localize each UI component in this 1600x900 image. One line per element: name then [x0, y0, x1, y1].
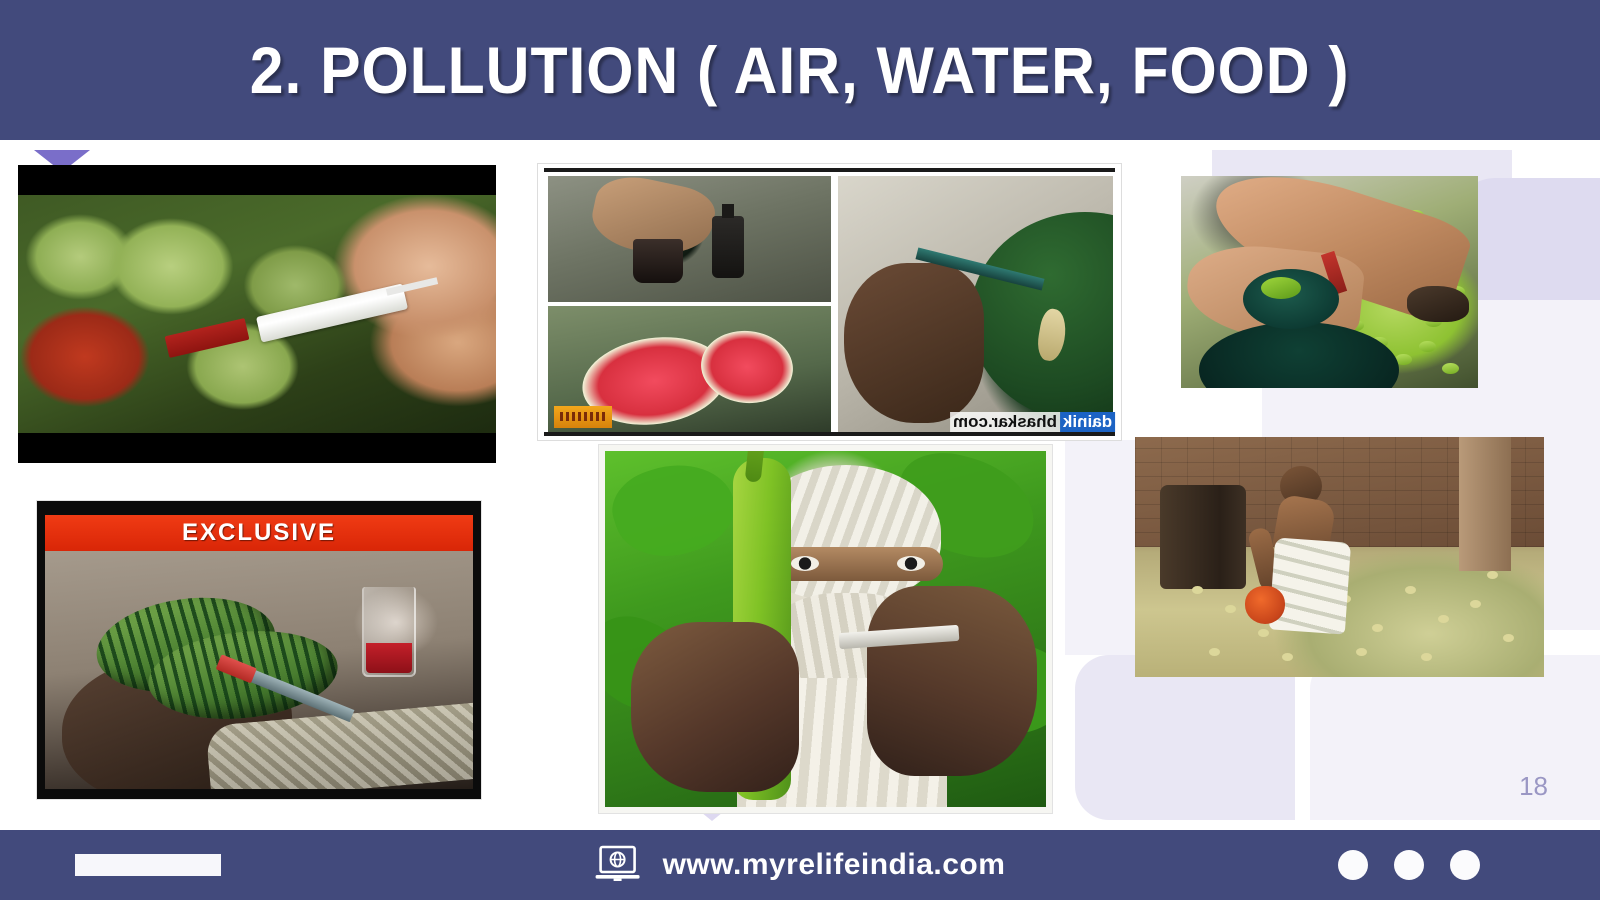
slide-root: 2. POLLUTION ( AIR, WATER, FOOD ) EXCLUS… [0, 0, 1600, 900]
right-hand [867, 586, 1037, 776]
collage-rule-bottom [544, 432, 1115, 436]
channel-tag [554, 406, 612, 428]
footer-url-label: www.myrelifeindia.com [663, 848, 1006, 882]
sandal [1407, 286, 1469, 322]
masked-farmer-gourd-photo [598, 444, 1053, 814]
slide-number: 18 [1519, 771, 1548, 802]
collage-rule-top [544, 168, 1115, 172]
dye-cup [633, 239, 683, 283]
pillar [1459, 437, 1511, 571]
exclusive-banner: EXCLUSIVE [45, 515, 473, 551]
eyes [773, 547, 943, 581]
left-hand [631, 622, 799, 792]
vegetable-heap-scene [1181, 176, 1478, 388]
collage-cell-cut-watermelon [548, 306, 831, 432]
laptop-globe-icon [595, 845, 641, 885]
footer-dots [1338, 850, 1480, 880]
footer-brand: www.myrelifeindia.com [595, 845, 1006, 885]
red-dye-glass [362, 587, 416, 677]
worker-dhoti [1269, 537, 1351, 634]
syringe-plunger [386, 277, 438, 296]
storage-drum [1160, 485, 1246, 589]
syringe-barrel [256, 283, 408, 342]
footer-dot [1338, 850, 1368, 880]
watermelon-table-scene [45, 551, 473, 789]
footer-dot [1450, 850, 1480, 880]
bhaskar-watermark: dainikbhaskar.com [950, 412, 1115, 432]
tomato-vine-scene [18, 195, 496, 433]
tomato-syringe-photo [18, 165, 496, 463]
page-title: 2. POLLUTION ( AIR, WATER, FOOD ) [250, 32, 1350, 108]
letterbox-bar-top [18, 165, 496, 195]
syringe-red-fluid [165, 318, 250, 358]
collage-cell-chemical-bottle [548, 176, 831, 302]
watermark-suffix: bhaskar.com [950, 412, 1060, 432]
footer-dot [1394, 850, 1424, 880]
exclusive-banner-label: EXCLUSIVE [182, 519, 336, 547]
watermark-prefix: dainik [1060, 412, 1115, 432]
footer-accent-bar [75, 854, 221, 876]
green-dye-vegetables-photo [1181, 176, 1478, 388]
exclusive-watermelon-photo: EXCLUSIVE [36, 500, 482, 800]
letterbox-bar-bottom [18, 433, 496, 463]
spray-pot [1245, 586, 1285, 624]
slide-header: 2. POLLUTION ( AIR, WATER, FOOD ) [0, 0, 1600, 140]
spraying-produce-photo [1135, 437, 1544, 677]
collage-cell-injection [838, 176, 1113, 432]
gourd-field-scene [605, 451, 1046, 807]
dye-bowl [1199, 322, 1399, 388]
leaf [605, 451, 745, 572]
produce-floor-scene [1135, 437, 1544, 677]
injecting-hand [844, 263, 984, 423]
chemical-bottle [712, 216, 744, 278]
bhaskar-collage-photo: dainikbhaskar.com [537, 163, 1122, 441]
slide-footer: www.myrelifeindia.com [0, 830, 1600, 900]
whole-watermelon [970, 212, 1113, 422]
